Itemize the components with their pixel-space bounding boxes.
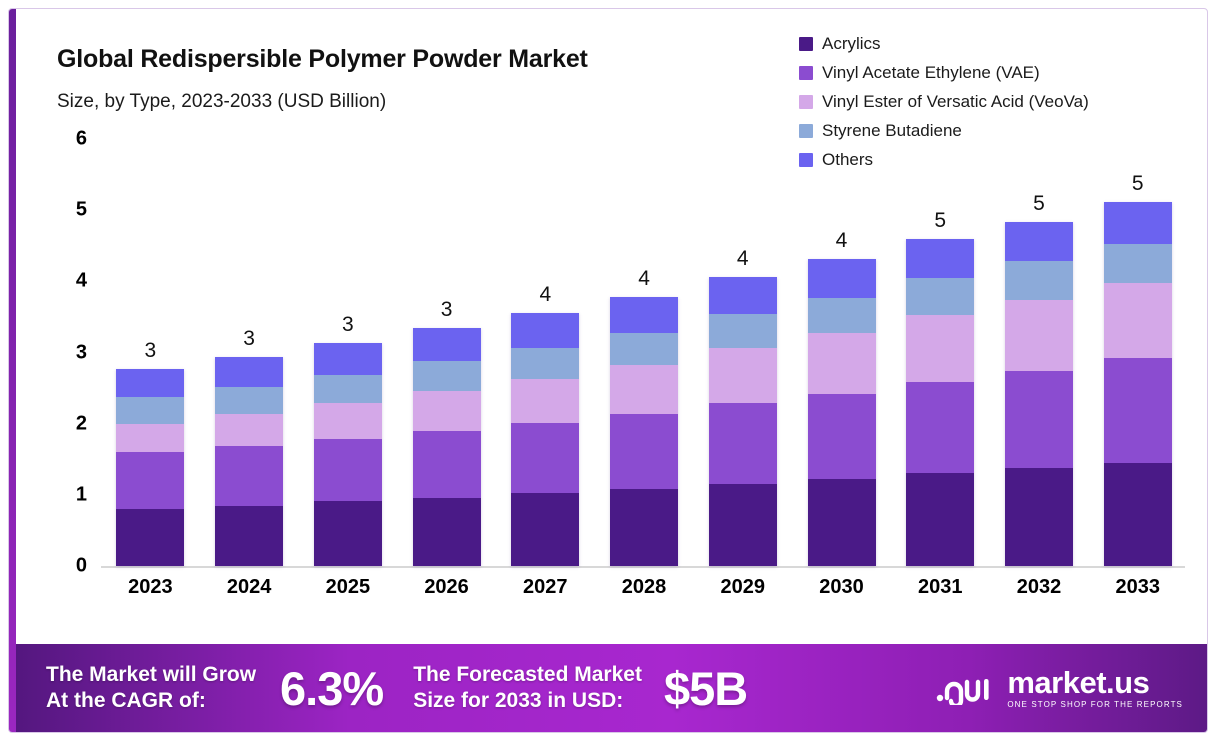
bar-segment[interactable] <box>1104 283 1172 358</box>
bar-segment[interactable] <box>610 414 678 489</box>
bar-segment[interactable] <box>709 277 777 314</box>
brand-name: market.us <box>1007 667 1183 698</box>
x-axis-line <box>101 566 1185 568</box>
bar-column[interactable]: 4 <box>496 139 595 566</box>
bar-segment[interactable] <box>1104 463 1172 566</box>
bar-value-label: 4 <box>792 229 891 253</box>
x-axis-tick-label: 2033 <box>1088 576 1187 614</box>
bar-segment[interactable] <box>116 369 184 397</box>
bar-column[interactable]: 4 <box>792 139 891 566</box>
x-axis-tick-label: 2023 <box>101 576 200 614</box>
cagr-label-line2: At the CAGR of: <box>46 688 256 714</box>
bar-segment[interactable] <box>610 333 678 366</box>
legend-item[interactable]: Acrylics <box>799 31 1199 56</box>
bar-segment[interactable] <box>1104 202 1172 243</box>
x-axis-tick-label: 2031 <box>891 576 990 614</box>
cagr-value: 6.3% <box>280 661 383 716</box>
stacked-bar[interactable] <box>215 357 283 566</box>
bar-segment[interactable] <box>215 387 283 414</box>
bar-segment[interactable] <box>215 506 283 566</box>
bar-value-label: 5 <box>990 192 1089 216</box>
x-axis-tick-label: 2025 <box>298 576 397 614</box>
bar-segment[interactable] <box>511 348 579 379</box>
bar-column[interactable]: 3 <box>397 139 496 566</box>
bar-segment[interactable] <box>1005 371 1073 468</box>
x-axis-tick-label: 2032 <box>990 576 1089 614</box>
bar-segment[interactable] <box>215 446 283 506</box>
forecast-value: $5B <box>664 661 747 716</box>
bar-segment[interactable] <box>808 479 876 566</box>
bar-value-label: 3 <box>298 313 397 337</box>
plot-area: 6543210 33334444555 20232024202520262027… <box>57 139 1187 619</box>
bar-segment[interactable] <box>808 298 876 334</box>
cagr-label: The Market will Grow At the CAGR of: <box>46 662 256 715</box>
stacked-bar[interactable] <box>413 328 481 566</box>
stacked-bar[interactable] <box>1104 202 1172 566</box>
legend-item-label: Styrene Butadiene <box>822 122 962 139</box>
bar-segment[interactable] <box>808 333 876 393</box>
bar-segment[interactable] <box>511 493 579 566</box>
bar-segment[interactable] <box>1005 468 1073 566</box>
bar-segment[interactable] <box>709 403 777 484</box>
bar-column[interactable]: 4 <box>693 139 792 566</box>
brand-tagline: ONE STOP SHOP FOR THE REPORTS <box>1007 701 1183 709</box>
x-axis-labels: 2023202420252026202720282029203020312032… <box>101 576 1187 614</box>
legend-swatch-icon <box>799 66 813 80</box>
legend-swatch-icon <box>799 95 813 109</box>
bar-segment[interactable] <box>215 357 283 387</box>
bar-segment[interactable] <box>413 361 481 391</box>
accent-rail <box>9 9 16 732</box>
legend-item-label: Acrylics <box>822 35 881 52</box>
bar-column[interactable]: 3 <box>298 139 397 566</box>
bar-segment[interactable] <box>1005 300 1073 371</box>
bar-segment[interactable] <box>314 375 382 403</box>
bar-value-label: 3 <box>397 298 496 322</box>
bar-segment[interactable] <box>116 452 184 509</box>
bar-segment[interactable] <box>116 424 184 452</box>
infographic-page: Global Redispersible Polymer Powder Mark… <box>0 0 1216 741</box>
stacked-bar[interactable] <box>610 297 678 566</box>
x-axis-tick-label: 2027 <box>496 576 595 614</box>
bar-value-label: 3 <box>101 339 200 363</box>
bar-value-label: 4 <box>496 283 595 307</box>
bar-segment[interactable] <box>610 365 678 413</box>
y-axis-tick-label: 2 <box>57 412 87 435</box>
bar-segment[interactable] <box>1005 222 1073 262</box>
bar-segment[interactable] <box>511 313 579 347</box>
bar-column[interactable]: 5 <box>990 139 1089 566</box>
bar-segment[interactable] <box>906 315 974 382</box>
cagr-label-line1: The Market will Grow <box>46 662 256 688</box>
x-axis-tick-label: 2030 <box>792 576 891 614</box>
bar-segment[interactable] <box>413 431 481 498</box>
y-axis-tick-label: 5 <box>57 199 87 222</box>
bar-segment[interactable] <box>511 423 579 493</box>
bar-segment[interactable] <box>1104 358 1172 463</box>
x-axis-tick-label: 2026 <box>397 576 496 614</box>
legend-item-label: Vinyl Ester of Versatic Acid (VeoVa) <box>822 93 1089 110</box>
bar-column[interactable]: 3 <box>200 139 299 566</box>
bar-segment[interactable] <box>610 489 678 566</box>
bar-segment[interactable] <box>116 509 184 566</box>
y-axis-tick-label: 4 <box>57 270 87 293</box>
bar-series-group: 33334444555 <box>101 139 1187 566</box>
chart-card: Global Redispersible Polymer Powder Mark… <box>8 8 1208 733</box>
bar-segment[interactable] <box>1005 261 1073 299</box>
y-axis-tick-label: 3 <box>57 341 87 364</box>
bar-segment[interactable] <box>215 414 283 446</box>
bar-segment[interactable] <box>906 473 974 566</box>
bar-segment[interactable] <box>314 501 382 566</box>
bar-segment[interactable] <box>906 382 974 474</box>
stacked-bar[interactable] <box>808 259 876 566</box>
bar-segment[interactable] <box>906 278 974 315</box>
bar-segment[interactable] <box>1104 244 1172 283</box>
bar-column[interactable]: 3 <box>101 139 200 566</box>
page-subtitle: Size, by Type, 2023-2033 (USD Billion) <box>57 91 386 113</box>
legend-swatch-icon <box>799 124 813 138</box>
bar-segment[interactable] <box>610 297 678 333</box>
bar-column[interactable]: 4 <box>595 139 694 566</box>
bar-segment[interactable] <box>511 379 579 423</box>
bar-segment[interactable] <box>413 391 481 431</box>
stacked-bar[interactable] <box>1005 222 1073 566</box>
bar-segment[interactable] <box>413 498 481 566</box>
bar-column[interactable]: 5 <box>891 139 990 566</box>
bar-column[interactable]: 5 <box>1088 139 1187 566</box>
legend-swatch-icon <box>799 37 813 51</box>
y-axis-tick-label: 0 <box>57 555 87 578</box>
bar-segment[interactable] <box>116 397 184 423</box>
bar-segment[interactable] <box>413 328 481 361</box>
bar-segment[interactable] <box>808 394 876 479</box>
bar-value-label: 4 <box>595 267 694 291</box>
y-axis-tick-label: 6 <box>57 128 87 151</box>
stacked-bar[interactable] <box>314 343 382 566</box>
legend-item[interactable]: Vinyl Acetate Ethylene (VAE) <box>799 60 1199 85</box>
x-axis-tick-label: 2029 <box>693 576 792 614</box>
bar-segment[interactable] <box>709 314 777 348</box>
bar-segment[interactable] <box>314 403 382 439</box>
brand-logo[interactable]: market.us ONE STOP SHOP FOR THE REPORTS <box>935 667 1183 709</box>
bar-value-label: 5 <box>1088 172 1187 196</box>
bar-value-label: 4 <box>693 247 792 271</box>
y-axis-labels: 6543210 <box>57 139 87 566</box>
stacked-bar[interactable] <box>116 369 184 566</box>
page-title: Global Redispersible Polymer Powder Mark… <box>57 45 588 74</box>
forecast-label: The Forecasted Market Size for 2033 in U… <box>413 662 642 715</box>
legend-item-label: Vinyl Acetate Ethylene (VAE) <box>822 64 1040 81</box>
bar-segment[interactable] <box>906 239 974 278</box>
bar-segment[interactable] <box>709 348 777 403</box>
forecast-label-line2: Size for 2033 in USD: <box>413 688 642 714</box>
forecast-label-line1: The Forecasted Market <box>413 662 642 688</box>
bar-segment[interactable] <box>314 343 382 374</box>
x-axis-tick-label: 2024 <box>200 576 299 614</box>
bar-value-label: 3 <box>200 327 299 351</box>
stacked-bar[interactable] <box>906 239 974 566</box>
legend-item[interactable]: Vinyl Ester of Versatic Acid (VeoVa) <box>799 89 1199 114</box>
y-axis-tick-label: 1 <box>57 483 87 506</box>
bar-segment[interactable] <box>808 259 876 297</box>
x-axis-tick-label: 2028 <box>595 576 694 614</box>
stacked-bar[interactable] <box>709 277 777 566</box>
summary-banner: The Market will Grow At the CAGR of: 6.3… <box>16 644 1207 732</box>
market-us-logo-icon <box>935 671 997 705</box>
bar-segment[interactable] <box>314 439 382 502</box>
bar-value-label: 5 <box>891 209 990 233</box>
stacked-bar[interactable] <box>511 313 579 566</box>
bar-segment[interactable] <box>709 484 777 566</box>
